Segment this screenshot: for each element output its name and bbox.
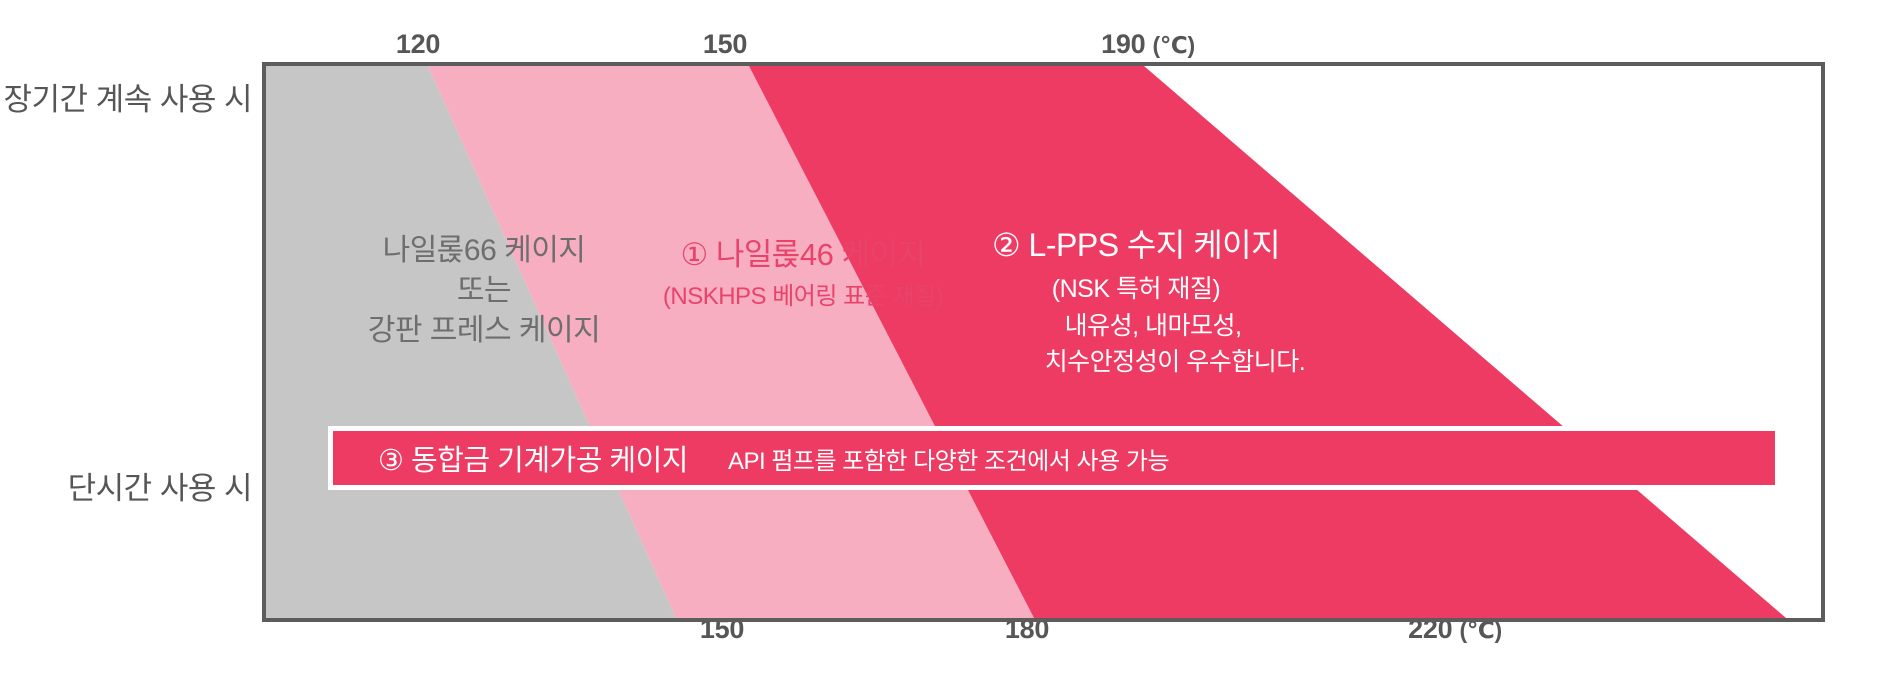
short-term-band: ③ 동합금 기계가공 케이지 API 펌프를 포함한 다양한 조건에서 사용 가… (328, 426, 1780, 490)
zone-red-line4: 치수안정성이 우수합니다. (956, 346, 1316, 380)
axis-top-unit-label: (℃) (1153, 32, 1195, 58)
axis-top-tick-150-label: 150 (703, 29, 747, 59)
axis-top-tick-120-label: 120 (396, 29, 440, 59)
zone-pink-heading: ① 나일롡46 케이지 (638, 234, 968, 276)
axis-top-tick-150: 150 (703, 29, 747, 60)
zone-red-line3: 내유성, 내마모성, (956, 310, 1316, 344)
axis-top-tick-120: 120 (396, 29, 440, 60)
axis-top-tick-190: 190 (℃) (1101, 29, 1195, 60)
zone-red-label: ② L-PPS 수지 케이지 (NSK 특허 재질) 내유성, 내마모성, 치수… (956, 224, 1316, 379)
short-term-band-note: API 펌프를 포함한 다양한 조건에서 사용 가능 (728, 441, 1169, 476)
row-label-short-term: 단시간 사용 시 (68, 463, 252, 508)
zone-gray-label: 나일롡66 케이지 또는 강판 프레스 케이지 (354, 231, 614, 352)
plot-area: 나일롡66 케이지 또는 강판 프레스 케이지 ① 나일롡46 케이지 (NSK… (262, 62, 1825, 622)
axis-top-tick-190-label: 190 (1101, 29, 1145, 59)
zone-pink-label: ① 나일롡46 케이지 (NSKHPS 베어링 표준 재질) (638, 234, 968, 313)
temperature-range-diagram: 120 150 190 (℃) 150 180 220 (℃) 장기간 계속 사… (0, 0, 1880, 700)
zone-gray-line2: 또는 (354, 271, 614, 311)
zone-gray-line1: 나일롡66 케이지 (354, 231, 614, 271)
zone-gray-line3: 강판 프레스 케이지 (354, 311, 614, 351)
short-term-band-title: ③ 동합금 기계가공 케이지 (378, 437, 688, 479)
zone-pink-subtitle: (NSKHPS 베어링 표준 재질) (638, 281, 968, 313)
zone-red-heading: ② L-PPS 수지 케이지 (956, 224, 1316, 267)
row-label-long-term: 장기간 계속 사용 시 (4, 74, 253, 119)
zone-red-subtitle: (NSK 특허 재질) (956, 273, 1316, 307)
